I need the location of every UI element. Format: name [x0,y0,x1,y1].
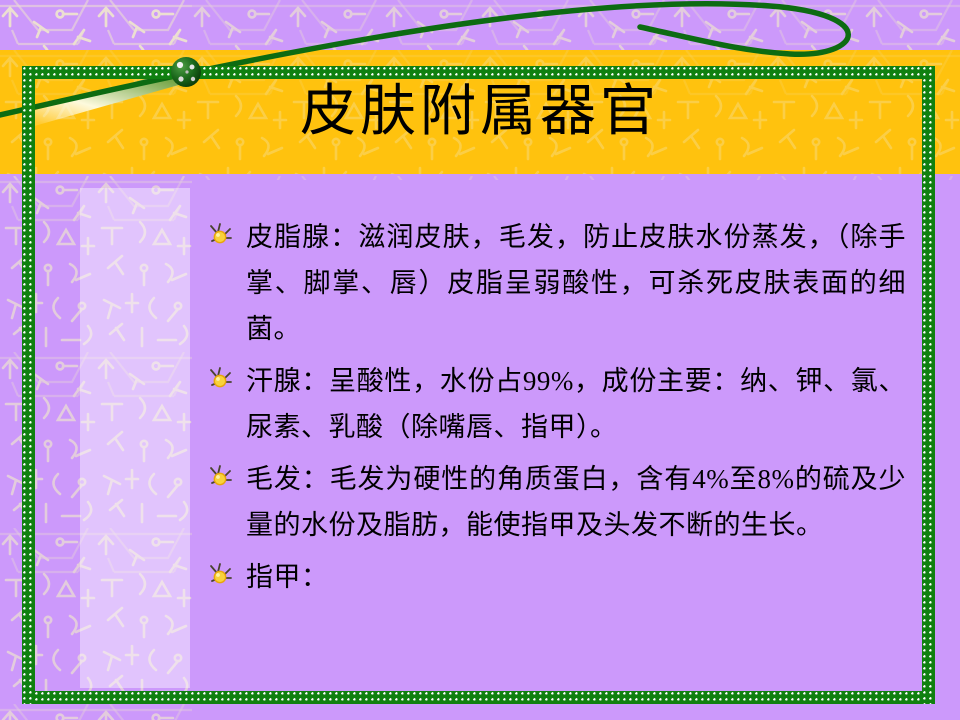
gold-sparkle-bullet-icon [206,221,234,249]
list-item: 毛发：毛发为硬性的角质蛋白，含有4%至8%的硫及少量的水份及脂肪，能使指甲及头发… [206,456,906,548]
bullet-list: 皮脂腺：滋润皮肤，毛发，防止皮肤水份蒸发，（除手掌、脚掌、唇）皮脂呈弱酸性，可杀… [206,214,906,606]
list-item-text: 汗腺：呈酸性，水份占99%，成份主要：纳、钾、氯、尿素、乳酸（除嘴唇、指甲）。 [246,358,906,450]
gold-sparkle-bullet-icon [206,561,234,589]
gold-sparkle-bullet-icon [206,365,234,393]
light-vertical-band [80,188,190,688]
list-item: 皮脂腺：滋润皮肤，毛发，防止皮肤水份蒸发，（除手掌、脚掌、唇）皮脂呈弱酸性，可杀… [206,214,906,352]
list-item-text: 皮脂腺：滋润皮肤，毛发，防止皮肤水份蒸发，（除手掌、脚掌、唇）皮脂呈弱酸性，可杀… [246,214,906,352]
list-item: 汗腺：呈酸性，水份占99%，成份主要：纳、钾、氯、尿素、乳酸（除嘴唇、指甲）。 [206,358,906,450]
gold-sparkle-bullet-icon [206,463,234,491]
list-item-text: 毛发：毛发为硬性的角质蛋白，含有4%至8%的硫及少量的水份及脂肪，能使指甲及头发… [246,456,906,548]
page-title: 皮肤附属器官 [0,50,960,174]
list-item-text: 指甲： [246,554,906,600]
frame-edge-bottom [22,691,935,704]
slide-canvas: 皮肤附属器官 皮脂腺：滋润皮肤，毛发，防止皮肤水份蒸发，（除手掌、脚掌、唇）皮脂… [0,0,960,720]
list-item: 指甲： [206,554,906,600]
